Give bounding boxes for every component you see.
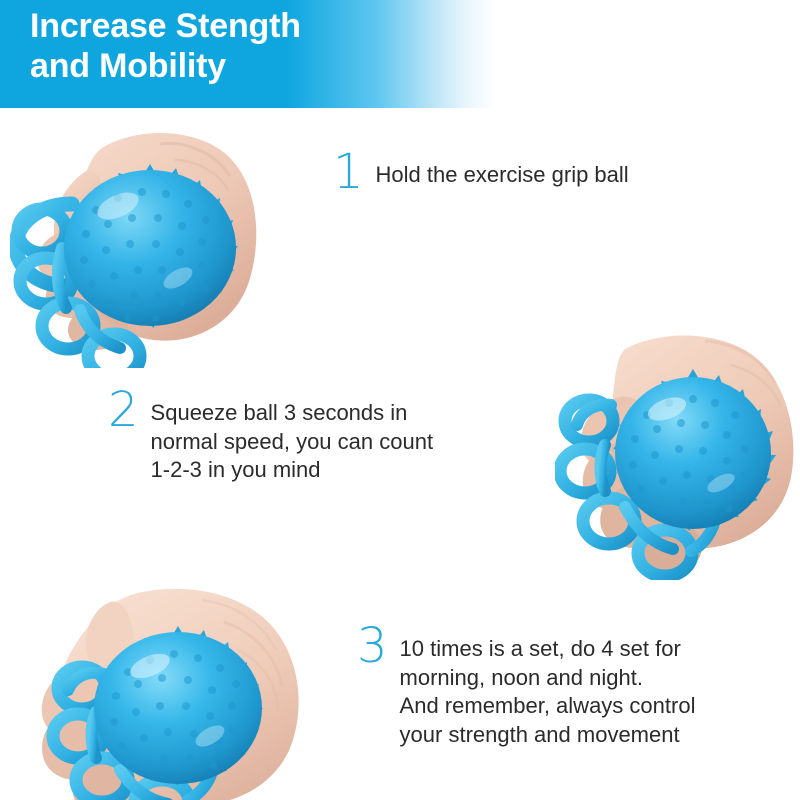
step-2-text: Squeeze ball 3 seconds in normal speed, …: [139, 390, 434, 485]
step-1-text: Hold the exercise grip ball: [364, 152, 629, 190]
step-2-number: 2: [108, 390, 139, 431]
step-3-number: 3: [357, 626, 388, 667]
step-3: 3 10 times is a set, do 4 set for mornin…: [357, 626, 695, 749]
page-title: Increase Stength and Mobility: [30, 6, 460, 86]
step-3-text: 10 times is a set, do 4 set for morning,…: [388, 626, 696, 749]
photo-step-1: [10, 118, 300, 368]
header-band: Increase Stength and Mobility: [0, 0, 800, 108]
photo-step-2: [555, 325, 800, 580]
step-1: 1 Hold the exercise grip ball: [333, 152, 629, 193]
step-2: 2 Squeeze ball 3 seconds in normal speed…: [108, 390, 433, 485]
photo-step-3: [38, 580, 318, 800]
infographic-page: Increase Stength and Mobility: [0, 0, 800, 800]
step-1-number: 1: [333, 152, 364, 193]
